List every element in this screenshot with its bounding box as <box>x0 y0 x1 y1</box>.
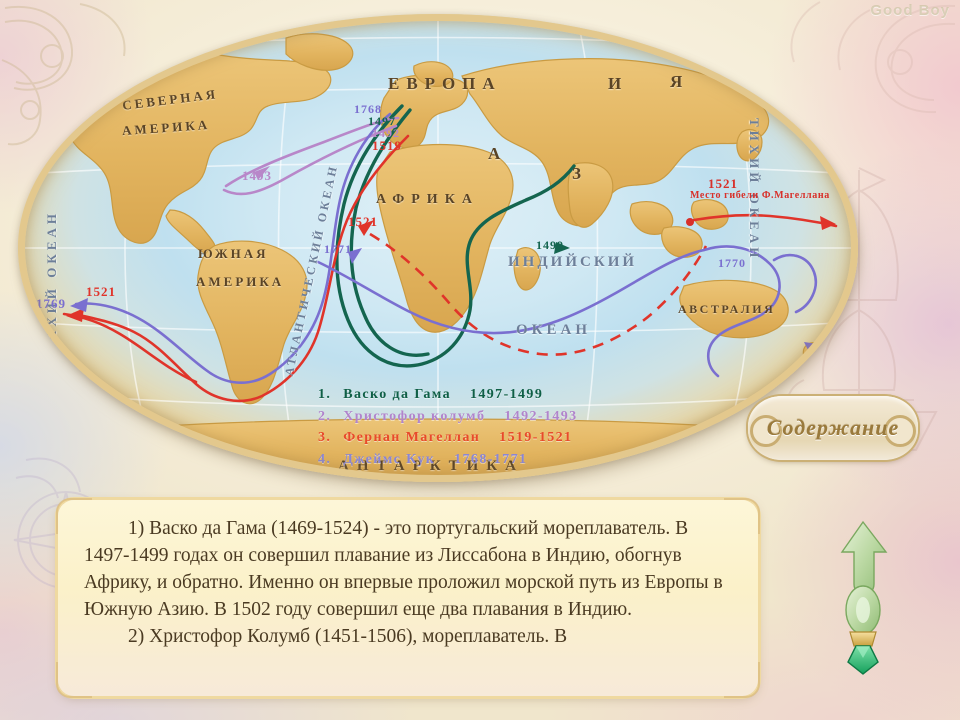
route-arrow-cook-pacific <box>70 298 88 312</box>
magellan-death-caption: Место гибели Ф.Магеллана <box>690 190 830 201</box>
map-label-asia-z: З <box>572 164 584 184</box>
page-root: Good Boy <box>0 0 960 720</box>
legend-num-2: 2. <box>318 409 331 424</box>
map-label-south-america-1: ЮЖНАЯ <box>198 246 268 262</box>
map-label-asia-ya: Я <box>670 72 685 92</box>
map-label-europe: ЕВРОПА <box>388 74 502 94</box>
year-marker-gama-return: 1499 <box>536 238 564 253</box>
map-label-indian-1: ИНДИЙСКИЙ <box>508 254 637 271</box>
contents-button[interactable]: Содержание <box>748 396 918 460</box>
year-marker-cook-atlantic: 1771 <box>324 242 352 257</box>
map-label-south-america-2: АМЕРИКА <box>196 274 284 290</box>
route-legend: 1. Васко да Гама 1497-1499 2. Христофор … <box>318 384 578 471</box>
map-label-asia-i: И <box>608 74 624 94</box>
year-marker-columbus-return: 1493 <box>242 168 272 184</box>
panel-corner-top-left <box>56 498 92 534</box>
description-paragraph-2: 2) Христофор Колумб (1451-1506), морепла… <box>84 624 732 651</box>
contents-button-label: Содержание <box>748 396 918 460</box>
legend-num-1: 1. <box>318 387 331 402</box>
legend-name-1: Васко да Гама <box>343 387 451 402</box>
magellan-death-marker <box>686 218 694 226</box>
legend-years-2: 1492-1493 <box>504 409 577 424</box>
map-label-asia-a: А <box>488 144 503 164</box>
map-label-australia: АВСТРАЛИЯ <box>678 302 775 317</box>
globe-surface: СЕВЕРНАЯ АМЕРИКА ЮЖНАЯ АМЕРИКА ЕВРОПА АФ… <box>18 14 858 482</box>
legend-row-3: 3. Фернан Магеллан 1519-1521 <box>318 427 578 449</box>
year-marker-cook-australia: 1770 <box>718 256 746 271</box>
legend-row-1: 1. Васко да Гама 1497-1499 <box>318 384 578 406</box>
map-label-pacific-left: ТИХИЙ ОКЕАН <box>44 210 60 353</box>
world-map: СЕВЕРНАЯ АМЕРИКА ЮЖНАЯ АМЕРИКА ЕВРОПА АФ… <box>18 14 866 492</box>
legend-name-4: Джеймс Кук <box>343 452 435 467</box>
legend-row-2: 2. Христофор колумб 1492-1493 <box>318 406 578 428</box>
description-panel: 1) Васко да Гама (1469-1524) - это порту… <box>58 500 758 696</box>
panel-corner-bottom-left <box>56 662 92 698</box>
route-arrow-magellan-right <box>820 216 836 230</box>
year-marker-magellan-start: 1519 <box>372 138 402 154</box>
panel-corner-top-right <box>724 498 760 534</box>
legend-row-4: 4. Джеймс Кук 1768-1771 <box>318 449 578 471</box>
description-paragraph-1: 1) Васко да Гама (1469-1524) - это порту… <box>84 516 732 624</box>
year-marker-magellan-pacific-left: 1521 <box>86 284 116 300</box>
legend-name-3: Фернан Магеллан <box>343 430 480 445</box>
legend-num-4: 4. <box>318 452 331 467</box>
legend-name-2: Христофор колумб <box>343 409 485 424</box>
legend-years-1: 1497-1499 <box>470 387 543 402</box>
map-label-africa: АФРИКА <box>376 192 479 208</box>
legend-years-4: 1768-1771 <box>454 452 527 467</box>
legend-years-3: 1519-1521 <box>499 430 572 445</box>
gem-arrow-ornament-icon <box>820 518 906 678</box>
year-marker-cook-pacific-left: 1769 <box>36 296 66 312</box>
watermark-label: Good Boy <box>870 2 950 19</box>
year-marker-magellan-atlantic: 1521 <box>348 214 378 230</box>
map-label-indian-2: ОКЕАН <box>516 322 591 339</box>
panel-corner-bottom-right <box>724 662 760 698</box>
legend-num-3: 3. <box>318 430 331 445</box>
